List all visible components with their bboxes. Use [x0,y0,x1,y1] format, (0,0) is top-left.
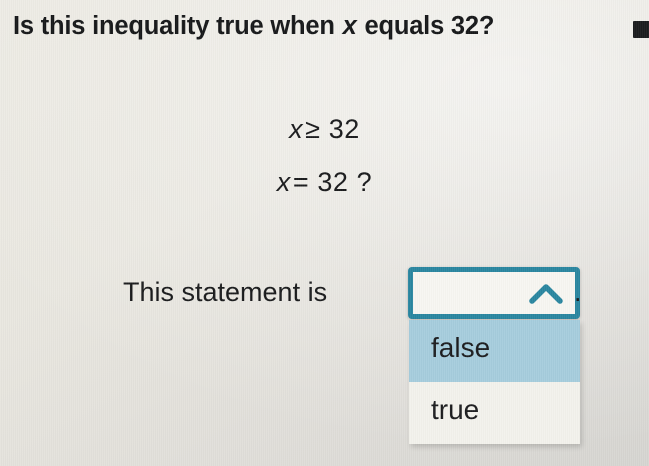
page-title-variable: x [342,12,358,40]
chevron-up-icon[interactable] [528,282,564,306]
inequality-variable: x [289,114,305,144]
page-title-prefix: Is this inequality true when [13,12,342,40]
inequality-body: ≥ 32 [305,114,360,144]
substitution-variable: x [277,167,293,197]
page-title: Is this inequality true when x equals 32… [13,12,494,41]
page-title-suffix: equals 32? [358,12,495,40]
sentence-period: . [574,277,582,308]
substitution-expression: x= 32 ? [0,167,649,198]
statement-label: This statement is [123,277,327,308]
dropdown-option-false[interactable]: false [409,320,580,382]
dropdown-option-true[interactable]: true [409,382,580,444]
substitution-body: = 32 ? [293,167,372,197]
quiz-screen: Is this inequality true when x equals 32… [0,0,649,466]
inequality-expression: x≥ 32 [0,114,649,145]
dropdown-option-list[interactable]: false true [409,320,580,444]
truth-value-dropdown[interactable] [408,267,580,319]
text-cursor-block [633,21,649,38]
